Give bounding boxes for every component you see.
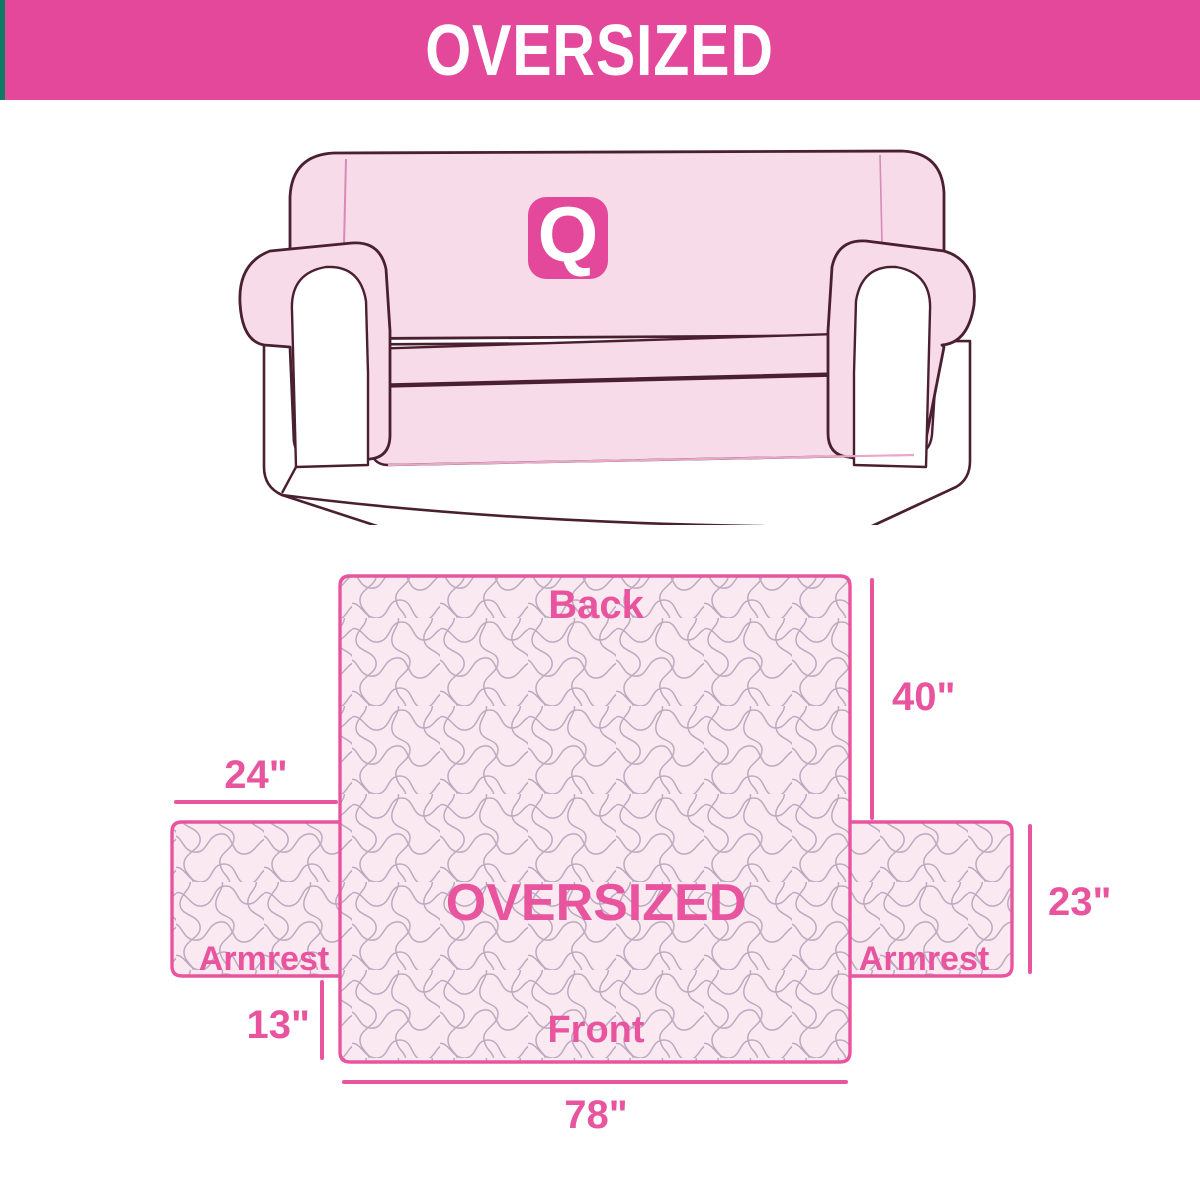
diagram-svg: Back Armrest OVERSIZED Armrest Front 40"… [0, 530, 1200, 1150]
dimension-label-23: 23" [1048, 880, 1111, 924]
dimension-armrest-width: 24" [176, 753, 336, 802]
brand-logo: Q [528, 190, 608, 279]
logo-letter: Q [538, 190, 599, 278]
slipcover-diagram: Back Armrest OVERSIZED Armrest Front 40"… [0, 530, 1200, 1150]
header-accent-strip [0, 0, 5, 100]
sofa-svg: Q [230, 135, 990, 525]
panel-label-front: Front [547, 1009, 644, 1051]
dimension-label-78: 78" [564, 1093, 627, 1137]
dimension-label-24: 24" [224, 753, 287, 797]
product-size-chart-page: OVERSIZED Q [0, 0, 1200, 1200]
panel-label-seat: OVERSIZED [446, 874, 747, 932]
dimension-back-height: 40" [872, 580, 955, 818]
dimension-front-height: 13" [247, 982, 322, 1058]
panel-label-armrest-right: Armrest [859, 940, 989, 978]
sofa-drawing: Q [240, 151, 975, 525]
header-banner: OVERSIZED [0, 0, 1200, 100]
page-title: OVERSIZED [426, 15, 775, 87]
dimension-armrest-height: 23" [1030, 826, 1111, 972]
sofa-illustration: Q [230, 135, 990, 525]
panel-label-back: Back [548, 583, 644, 627]
panel-label-armrest-left: Armrest [199, 940, 329, 978]
dimension-total-width: 78" [344, 1082, 846, 1137]
slipcover-shape [150, 560, 1050, 1080]
dimension-label-13: 13" [247, 1003, 310, 1047]
dimension-label-40: 40" [892, 675, 955, 719]
